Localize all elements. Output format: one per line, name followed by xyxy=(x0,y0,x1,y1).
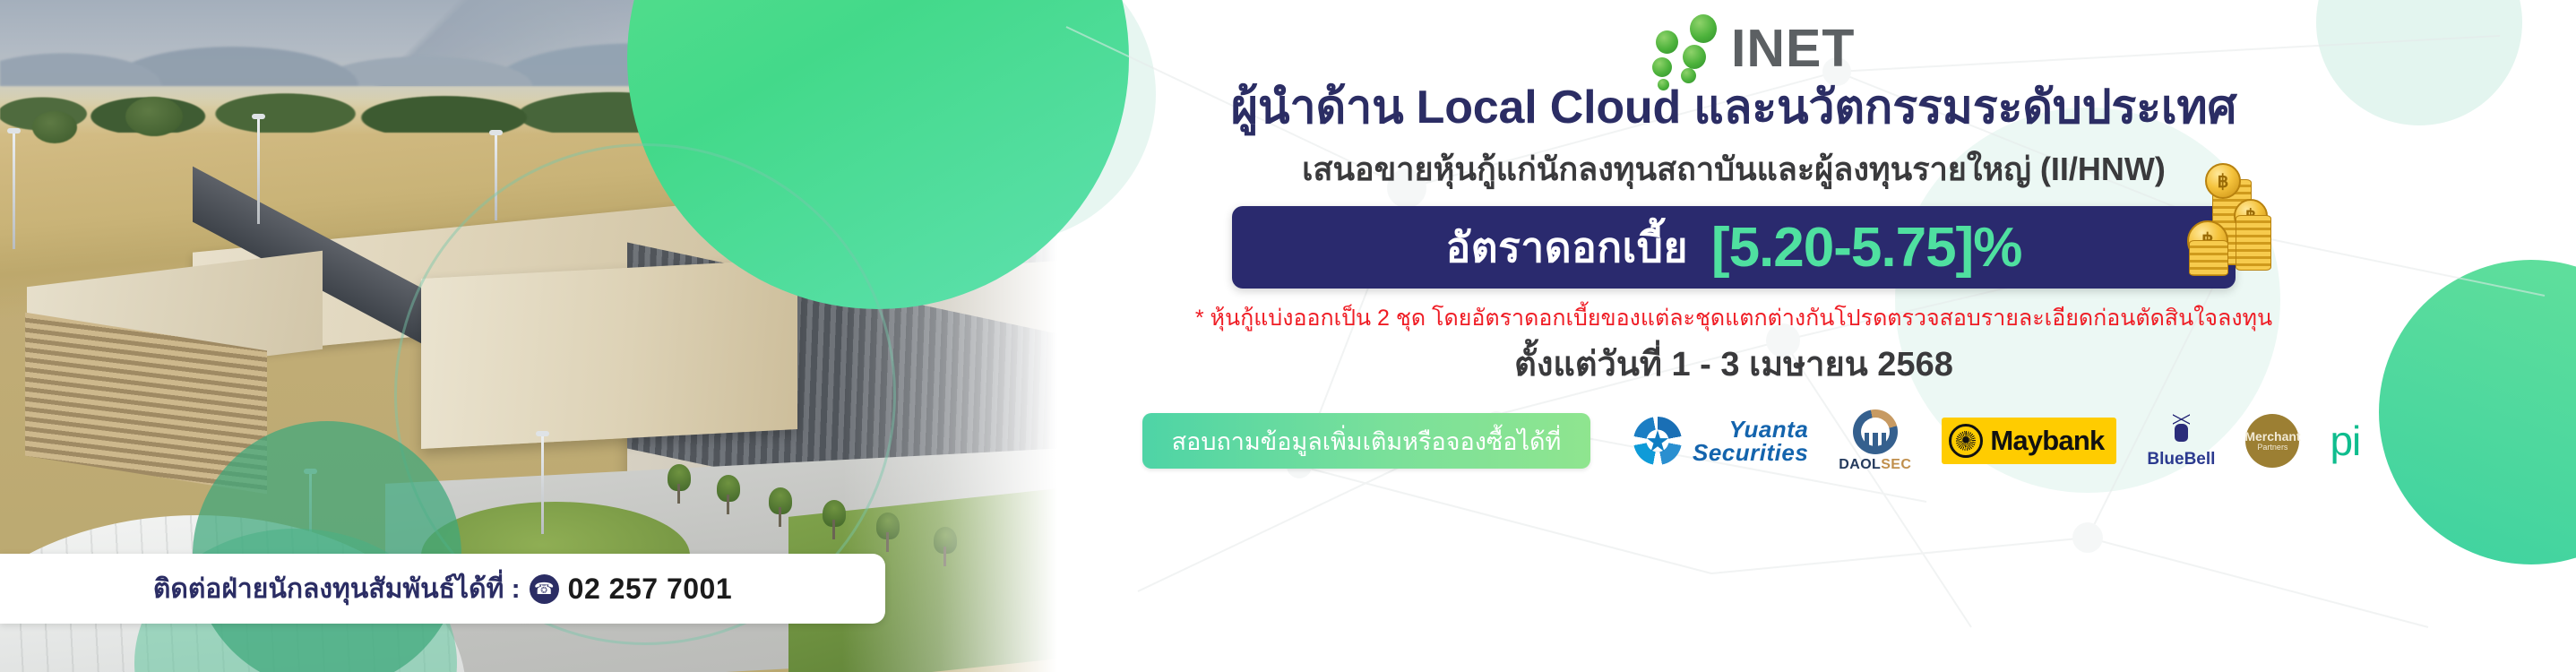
decor-circle-green-mid xyxy=(193,421,461,672)
daol-pie-chart-icon xyxy=(1853,409,1898,454)
inet-bubbles-logo-icon xyxy=(1631,13,1736,77)
tree xyxy=(125,97,183,136)
daol-sec-suffix: SEC xyxy=(1881,457,1911,472)
partner-logo-bluebell[interactable]: BlueBell xyxy=(2147,413,2215,470)
yuanta-line2: Securities xyxy=(1693,441,1808,464)
utility-pole xyxy=(13,133,15,249)
maybank-tiger-icon xyxy=(1949,424,1983,458)
inquire-or-subscribe-button[interactable]: สอบถามข้อมูลเพิ่มเติมหรือจองซื้อได้ที่ xyxy=(1142,413,1590,469)
interest-rate-label: อัตราดอกเบี้ย xyxy=(1446,215,1688,280)
partner-logo-merchant-partners[interactable]: Merchant Partners xyxy=(2245,414,2299,468)
partner-logo-daol[interactable]: DAOLSEC xyxy=(1839,409,1911,473)
bitcoin-coin-stack-icon: ฿ ฿ ฿ xyxy=(2182,163,2289,280)
investor-relations-contact-box: ติดต่อฝ่ายนักลงทุนสัมพันธ์ได้ที่ : ☎ 02 … xyxy=(0,554,885,624)
interest-rate-value: [5.20-5.75]% xyxy=(1711,216,2021,280)
promotional-banner: INET ผู้นำด้าน Local Cloud และนวัตกรรมระ… xyxy=(0,0,2576,672)
page-title: ผู้นำด้าน Local Cloud และนวัตกรรมระดับปร… xyxy=(1057,82,2410,134)
partner-logo-maybank[interactable]: Maybank xyxy=(1942,418,2116,464)
merchant-line2: Partners xyxy=(2257,444,2287,452)
yuanta-line1: Yuanta xyxy=(1693,418,1808,441)
yuanta-star-icon xyxy=(1633,417,1682,465)
maybank-wordmark: Maybank xyxy=(1990,425,2104,457)
content-column: INET ผู้นำด้าน Local Cloud และนวัตกรรมระ… xyxy=(1057,0,2576,672)
partner-logo-list: Yuanta Securities DAOLSEC Maybank xyxy=(1633,409,2360,473)
merchant-line1: Merchant xyxy=(2244,430,2300,444)
partner-logo-yuanta[interactable]: Yuanta Securities xyxy=(1633,417,1808,465)
disclaimer-text: * หุ้นกู้แบ่งออกเป็น 2 ชุด โดยอัตราดอกเบ… xyxy=(1057,300,2410,336)
cta-and-partners-row: สอบถามข้อมูลเพิ่มเติมหรือจองซื้อได้ที่ Y… xyxy=(1057,400,2576,482)
interest-rate-box: อัตราดอกเบี้ย [5.20-5.75]% xyxy=(1232,206,2236,289)
utility-pole xyxy=(257,118,260,224)
daol-wordmark: DAOL xyxy=(1839,457,1881,472)
phone-icon: ☎ xyxy=(530,574,559,604)
bluebell-deer-icon xyxy=(2163,413,2199,449)
tree xyxy=(32,111,77,143)
bluebell-wordmark: BlueBell xyxy=(2147,450,2215,470)
inet-logo-text: INET xyxy=(1731,18,1855,79)
partner-logo-pi[interactable]: pi xyxy=(2330,420,2360,461)
offering-date: ตั้งแต่วันที่ 1 - 3 เมษายน 2568 xyxy=(1057,336,2410,391)
inet-logo: INET xyxy=(1631,13,1917,77)
contact-label: ติดต่อฝ่ายนักลงทุนสัมพันธ์ได้ที่ : xyxy=(153,568,521,610)
contact-phone-number[interactable]: 02 257 7001 xyxy=(568,573,732,606)
